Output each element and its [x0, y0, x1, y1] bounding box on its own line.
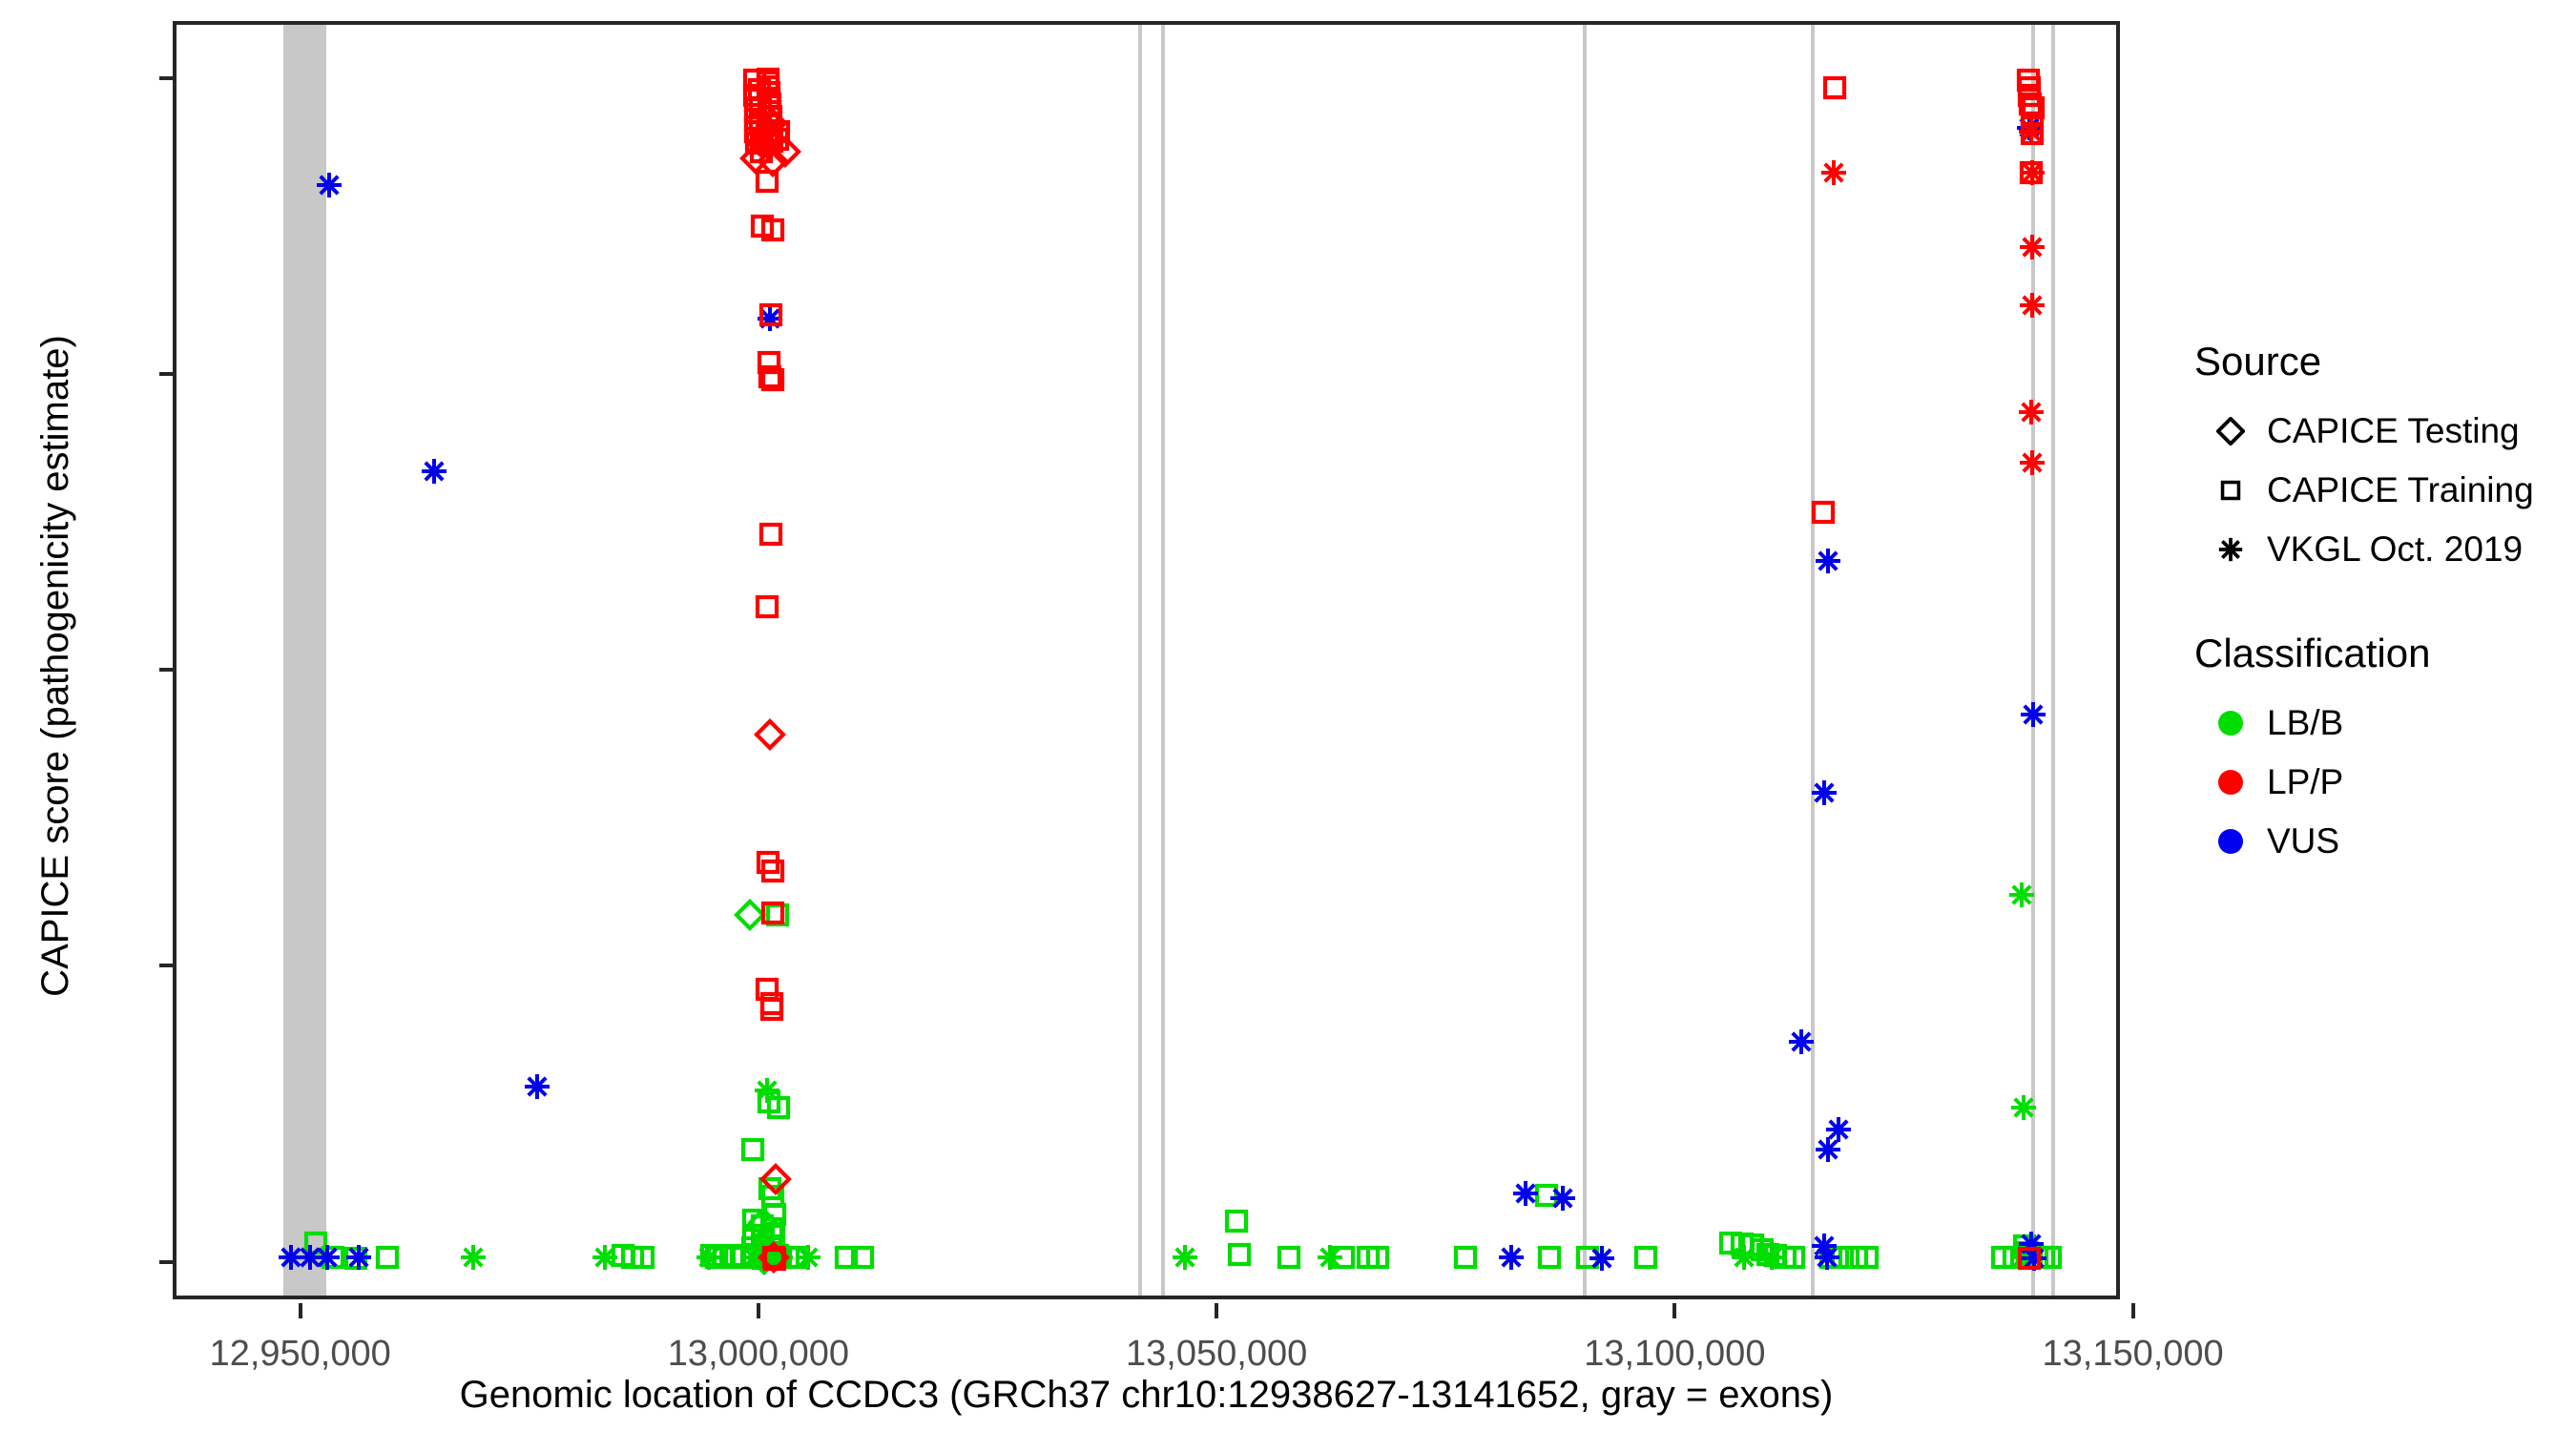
data-point: [694, 1242, 724, 1273]
data-point: [704, 1245, 729, 1270]
data-point: [751, 1226, 776, 1251]
data-point: [1813, 1134, 1843, 1165]
data-point: [834, 1245, 859, 1270]
data-point: [740, 1235, 765, 1260]
data-point: [754, 122, 784, 153]
legend-item-label: VUS: [2267, 821, 2339, 861]
data-point: [2017, 75, 2042, 100]
y-axis-title: CAPICE score (pathogenicity estimate): [29, 3, 82, 1329]
data-point: [768, 1245, 793, 1270]
legend-item-source[interactable]: VKGL Oct. 2019: [2194, 520, 2576, 579]
data-point: [1277, 1245, 1301, 1270]
data-point: [699, 1243, 724, 1268]
data-point: [748, 1208, 779, 1238]
data-point: [748, 111, 773, 135]
data-point: [747, 77, 772, 102]
y-tick-mark: [159, 668, 175, 672]
data-point: [793, 1242, 823, 1273]
data-point: [756, 67, 780, 92]
data-point: [762, 1202, 787, 1227]
data-point: [758, 146, 788, 176]
x-tick-label: 13,000,000: [606, 1334, 911, 1375]
data-point: [741, 1245, 766, 1270]
legend-item-source[interactable]: CAPICE Testing: [2194, 402, 2576, 461]
data-point: [766, 119, 791, 144]
data-point: [1537, 1245, 1562, 1270]
exon-band: [1811, 25, 1815, 1296]
data-point: [757, 132, 781, 156]
data-point: [757, 1089, 781, 1114]
data-point: [755, 719, 785, 750]
data-point: [776, 1245, 800, 1270]
data-point: [770, 136, 800, 167]
exon-band: [2031, 25, 2035, 1296]
data-point: [760, 1240, 785, 1265]
data-point: [720, 1243, 745, 1268]
x-tick-mark: [299, 1303, 302, 1318]
data-point: [760, 218, 785, 242]
data-point: [762, 1246, 787, 1271]
asterisk-icon: [2194, 520, 2267, 579]
data-point: [760, 367, 785, 392]
data-point: [1729, 1242, 1759, 1273]
data-point: [765, 1243, 790, 1268]
color-dot-icon: [2194, 694, 2267, 753]
data-point: [761, 1245, 786, 1270]
data-point: [738, 1242, 769, 1273]
data-point: [765, 127, 790, 152]
data-point: [761, 1223, 786, 1248]
data-point: [758, 1242, 789, 1273]
legend-source-group: CAPICE TestingCAPICE TrainingVKGL Oct. 2…: [2194, 402, 2576, 579]
data-point: [756, 850, 780, 875]
data-point: [744, 131, 769, 156]
legend-item-label: CAPICE Training: [2267, 470, 2534, 510]
data-point: [743, 95, 768, 120]
color-dot-icon: [2194, 753, 2267, 812]
x-tick-label: 13,050,000: [1064, 1334, 1369, 1375]
data-point: [760, 859, 785, 883]
data-point: [750, 1237, 775, 1262]
data-point: [758, 92, 782, 116]
data-point: [759, 129, 784, 154]
data-point: [755, 594, 779, 619]
data-point: [1633, 1245, 1658, 1270]
data-point: [749, 127, 774, 152]
data-point: [758, 1242, 789, 1273]
data-point: [760, 1184, 785, 1209]
legend-item-label: LP/P: [2267, 762, 2343, 802]
data-point: [758, 119, 783, 144]
legend-item-classification[interactable]: VUS: [2194, 812, 2576, 871]
color-dot-icon: [2194, 812, 2267, 871]
y-tick-mark: [159, 964, 175, 967]
data-point: [765, 1242, 796, 1273]
data-point: [757, 80, 781, 105]
data-point: [1990, 1245, 2015, 1270]
data-point: [1365, 1245, 1390, 1270]
x-tick-mark: [2131, 1303, 2135, 1318]
data-point: [751, 1246, 776, 1271]
data-point: [756, 113, 780, 137]
plot-area: [177, 25, 2116, 1296]
data-point: [735, 900, 765, 930]
square-icon: [2194, 461, 2267, 520]
data-point: [762, 1247, 787, 1272]
legend-item-classification[interactable]: LP/P: [2194, 753, 2576, 812]
data-point: [743, 107, 768, 132]
data-point: [419, 456, 449, 487]
data-point: [759, 1216, 784, 1241]
x-tick-label: 13,150,000: [1981, 1334, 2286, 1375]
data-point: [1496, 1242, 1527, 1273]
data-point: [2018, 92, 2043, 116]
data-point: [1453, 1245, 1478, 1270]
data-point: [757, 86, 781, 111]
data-point: [742, 68, 767, 93]
y-tick-mark: [159, 1260, 175, 1264]
y-tick-mark: [159, 372, 175, 376]
y-tick-mark: [159, 76, 175, 80]
legend-classification-group: LB/BLP/PVUS: [2194, 694, 2576, 871]
data-point: [1534, 1183, 1559, 1208]
diamond-icon: [2194, 402, 2267, 461]
legend-spacer: [2194, 579, 2576, 631]
data-point: [749, 1244, 779, 1275]
data-point: [375, 1245, 400, 1270]
data-point: [756, 74, 780, 99]
data-point: [1818, 157, 1849, 188]
data-point: [729, 1245, 754, 1270]
data-point: [1818, 1245, 1843, 1270]
legend-item-classification[interactable]: LB/B: [2194, 694, 2576, 753]
data-point: [760, 1164, 791, 1194]
data-point: [758, 302, 783, 327]
data-point: [766, 1095, 791, 1120]
legend-item-source[interactable]: CAPICE Training: [2194, 461, 2576, 520]
legend-item-label: VKGL Oct. 2019: [2267, 529, 2523, 570]
data-point: [757, 108, 787, 138]
data-point: [742, 83, 767, 108]
data-point: [740, 1137, 765, 1162]
data-point: [2016, 68, 2041, 93]
data-point: [1587, 1243, 1617, 1274]
data-point: [712, 1245, 737, 1270]
data-point: [2015, 1240, 2040, 1265]
data-point: [759, 997, 784, 1022]
data-point: [1548, 1183, 1578, 1213]
legend: Source CAPICE TestingCAPICE TrainingVKGL…: [2194, 339, 2576, 871]
data-point: [758, 364, 782, 389]
data-point: [756, 121, 780, 146]
plot-panel: 0.000.250.500.751.0012,950,00013,000,000…: [173, 21, 2120, 1299]
data-point: [752, 1075, 782, 1106]
data-point: [750, 214, 775, 238]
x-axis-title: Genomic location of CCDC3 (GRCh37 chr10:…: [173, 1374, 2120, 1417]
x-tick-mark: [1672, 1303, 1676, 1318]
data-point: [741, 1208, 766, 1233]
data-point: [758, 1176, 782, 1201]
data-point: [2002, 1245, 2026, 1270]
data-point: [1750, 1237, 1775, 1262]
x-tick-mark: [757, 1303, 760, 1318]
data-point: [783, 1245, 808, 1270]
data-point: [1315, 1242, 1345, 1273]
data-point: [759, 1246, 784, 1271]
data-point: [1331, 1245, 1356, 1270]
x-tick-label: 12,950,000: [148, 1334, 453, 1375]
data-point: [1813, 546, 1843, 576]
data-point: [747, 128, 778, 158]
data-point: [743, 119, 768, 144]
data-point: [757, 127, 781, 152]
data-point: [758, 104, 783, 129]
data-point: [1224, 1209, 1249, 1234]
data-point: [343, 1242, 374, 1273]
data-point: [1844, 1245, 1869, 1270]
data-point: [343, 1246, 368, 1271]
data-point: [1356, 1245, 1381, 1270]
data-point: [590, 1242, 620, 1273]
data-point: [1812, 1242, 1842, 1273]
data-point: [2017, 1246, 2042, 1271]
data-point: [755, 169, 779, 194]
data-point: [1773, 1245, 1797, 1270]
data-point: [755, 977, 779, 1002]
data-point: [749, 139, 774, 164]
data-point: [1830, 1245, 1855, 1270]
legend-title-classification: Classification: [2194, 631, 2576, 676]
data-point: [1718, 1231, 1743, 1255]
data-point: [1730, 1232, 1755, 1256]
legend-item-label: CAPICE Testing: [2267, 411, 2520, 451]
data-point: [760, 901, 785, 925]
data-point: [611, 1243, 635, 1268]
exon-band: [1138, 25, 1142, 1296]
data-point: [756, 70, 780, 94]
data-point: [522, 1071, 552, 1102]
exon-band: [283, 25, 326, 1296]
data-point: [765, 902, 790, 927]
data-point: [2025, 1245, 2049, 1270]
data-point: [2014, 113, 2045, 143]
data-point: [1755, 1242, 1780, 1267]
data-point: [1855, 1245, 1880, 1270]
data-point: [1740, 1233, 1765, 1257]
data-point: [759, 991, 784, 1016]
legend-title-source: Source: [2194, 339, 2576, 384]
data-point: [758, 1234, 783, 1258]
data-point: [1763, 1243, 1788, 1268]
chart-root: 0.000.250.500.751.0012,950,00013,000,000…: [0, 0, 2576, 1431]
data-point: [1822, 75, 1847, 100]
data-point: [1781, 1245, 1806, 1270]
data-point: [1510, 1178, 1541, 1209]
data-point: [740, 143, 771, 174]
x-tick-label: 13,100,000: [1522, 1334, 1827, 1375]
data-point: [741, 1223, 766, 1248]
data-point: [749, 1233, 779, 1263]
data-point: [757, 350, 781, 375]
data-point: [458, 1242, 488, 1273]
data-point: [1756, 1242, 1787, 1273]
data-point: [758, 522, 783, 547]
exon-band: [2051, 25, 2055, 1296]
legend-item-label: LB/B: [2267, 703, 2343, 743]
data-point: [748, 95, 773, 120]
data-point: [755, 303, 785, 334]
data-point: [758, 99, 782, 124]
exon-band: [1161, 25, 1165, 1296]
data-point: [755, 122, 779, 147]
data-point: [2017, 83, 2042, 108]
data-point: [1170, 1242, 1200, 1273]
exon-band: [1583, 25, 1587, 1296]
x-tick-mark: [1215, 1303, 1218, 1318]
data-point: [750, 1213, 775, 1238]
data-point: [631, 1245, 655, 1270]
data-point: [1823, 1114, 1854, 1145]
data-point: [1811, 500, 1836, 525]
data-point: [850, 1245, 875, 1270]
data-point: [620, 1245, 645, 1270]
data-point: [1227, 1242, 1252, 1267]
data-point: [1575, 1245, 1600, 1270]
